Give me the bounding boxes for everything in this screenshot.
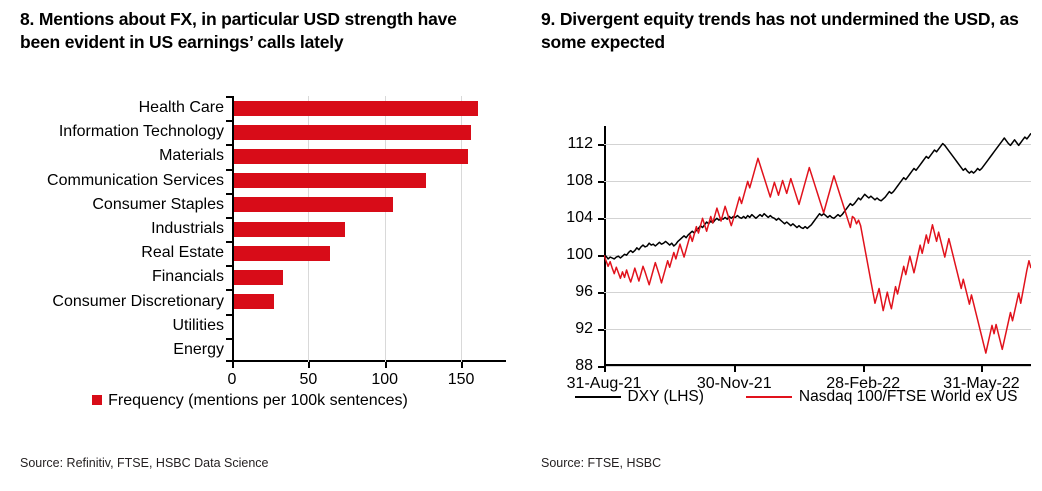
- bar-y-tick: [226, 169, 232, 171]
- line-y-tick-label: 100: [566, 247, 593, 263]
- bar: [234, 101, 478, 116]
- bar-y-tick: [226, 144, 232, 146]
- bar: [234, 149, 468, 164]
- bar-legend-label: Frequency (mentions per 100k sentences): [108, 392, 408, 409]
- legend-line-icon: [746, 396, 792, 398]
- line-plot-area: 31-Aug-2130-Nov-2128-Feb-2231-May-22: [604, 126, 1031, 366]
- bar-category-label: Energy: [173, 342, 224, 358]
- bar-x-tick-label: 150: [448, 372, 475, 388]
- line-y-tick-label: 92: [575, 321, 593, 337]
- line-series-canvas: [604, 126, 1031, 366]
- bar-x-axis-line: [232, 360, 506, 362]
- bar: [234, 173, 426, 188]
- bar-category-label: Financials: [152, 269, 224, 285]
- bar-category-label: Consumer Staples: [92, 197, 224, 213]
- bar-y-tick: [226, 96, 232, 98]
- bar-category-label: Consumer Discretionary: [52, 294, 224, 310]
- bar-x-tick-label: 100: [371, 372, 398, 388]
- line-x-tick: [981, 366, 983, 372]
- bar-y-tick: [226, 314, 232, 316]
- right-chart-title: 9. Divergent equity trends has not under…: [541, 8, 1041, 54]
- left-chart-panel: 8. Mentions about FX, in particular USD …: [0, 0, 521, 491]
- screenshot-root: 8. Mentions about FX, in particular USD …: [0, 0, 1042, 491]
- bar-category-labels: Health CareInformation TechnologyMateria…: [0, 96, 224, 362]
- line-y-tick-labels: 889296100104108112: [521, 126, 593, 366]
- right-chart-panel: 9. Divergent equity trends has not under…: [521, 0, 1042, 491]
- bar: [234, 294, 274, 309]
- line-x-tick: [604, 366, 606, 372]
- legend-swatch-icon: [92, 395, 102, 405]
- line-legend-item: Nasdaq 100/FTSE World ex US: [746, 388, 1018, 406]
- bar-y-tick: [226, 217, 232, 219]
- line-y-tick-label: 104: [566, 210, 593, 226]
- bar-y-tick: [226, 241, 232, 243]
- line-legend-label: DXY (LHS): [628, 388, 704, 406]
- line-legend-label: Nasdaq 100/FTSE World ex US: [799, 388, 1018, 406]
- line-series-1: [604, 133, 1031, 259]
- bar-x-tick: [308, 362, 310, 368]
- bar: [234, 197, 393, 212]
- bar-plot-area: 050100150: [232, 96, 484, 362]
- line-y-tick-label: 88: [575, 358, 593, 374]
- line-legend: DXY (LHS)Nasdaq 100/FTSE World ex US: [561, 388, 1031, 406]
- bar-x-tick-label: 0: [228, 372, 237, 388]
- bar-category-label: Materials: [159, 148, 224, 164]
- line-series-2: [604, 158, 1031, 353]
- legend-line-icon: [575, 396, 621, 398]
- bar-legend: Frequency (mentions per 100k sentences): [0, 392, 500, 410]
- bar-y-tick: [226, 193, 232, 195]
- bar-y-tick: [226, 338, 232, 340]
- left-source-note: Source: Refinitiv, FTSE, HSBC Data Scien…: [20, 456, 268, 470]
- line-chart: 889296100104108112 31-Aug-2130-Nov-2128-…: [521, 96, 1042, 396]
- bar-y-tick: [226, 265, 232, 267]
- bar-category-label: Information Technology: [59, 124, 224, 140]
- bar-x-tick: [385, 362, 387, 368]
- bar-category-label: Communication Services: [47, 173, 224, 189]
- bar-category-label: Industrials: [151, 221, 224, 237]
- bar-category-label: Health Care: [139, 100, 224, 116]
- bar-chart: Health CareInformation TechnologyMateria…: [0, 96, 521, 396]
- bar-x-tick: [232, 362, 234, 368]
- line-gridline: [604, 366, 1031, 367]
- bar: [234, 246, 330, 261]
- bar: [234, 125, 471, 140]
- line-y-tick-label: 108: [566, 173, 593, 189]
- bar-y-tick: [226, 120, 232, 122]
- line-y-tick-label: 112: [567, 136, 593, 152]
- right-source-note: Source: FTSE, HSBC: [541, 456, 661, 470]
- bar-x-tick: [461, 362, 463, 368]
- line-legend-item: DXY (LHS): [575, 388, 704, 406]
- bar-x-tick-label: 50: [299, 372, 317, 388]
- bar-y-tick: [226, 289, 232, 291]
- left-chart-title: 8. Mentions about FX, in particular USD …: [20, 8, 500, 54]
- line-x-tick: [863, 366, 865, 372]
- line-x-tick: [734, 366, 736, 372]
- bar: [234, 270, 283, 285]
- bar: [234, 222, 345, 237]
- line-y-tick-label: 96: [575, 284, 593, 300]
- bar-category-label: Utilities: [172, 318, 224, 334]
- bar-category-label: Real Estate: [141, 245, 224, 261]
